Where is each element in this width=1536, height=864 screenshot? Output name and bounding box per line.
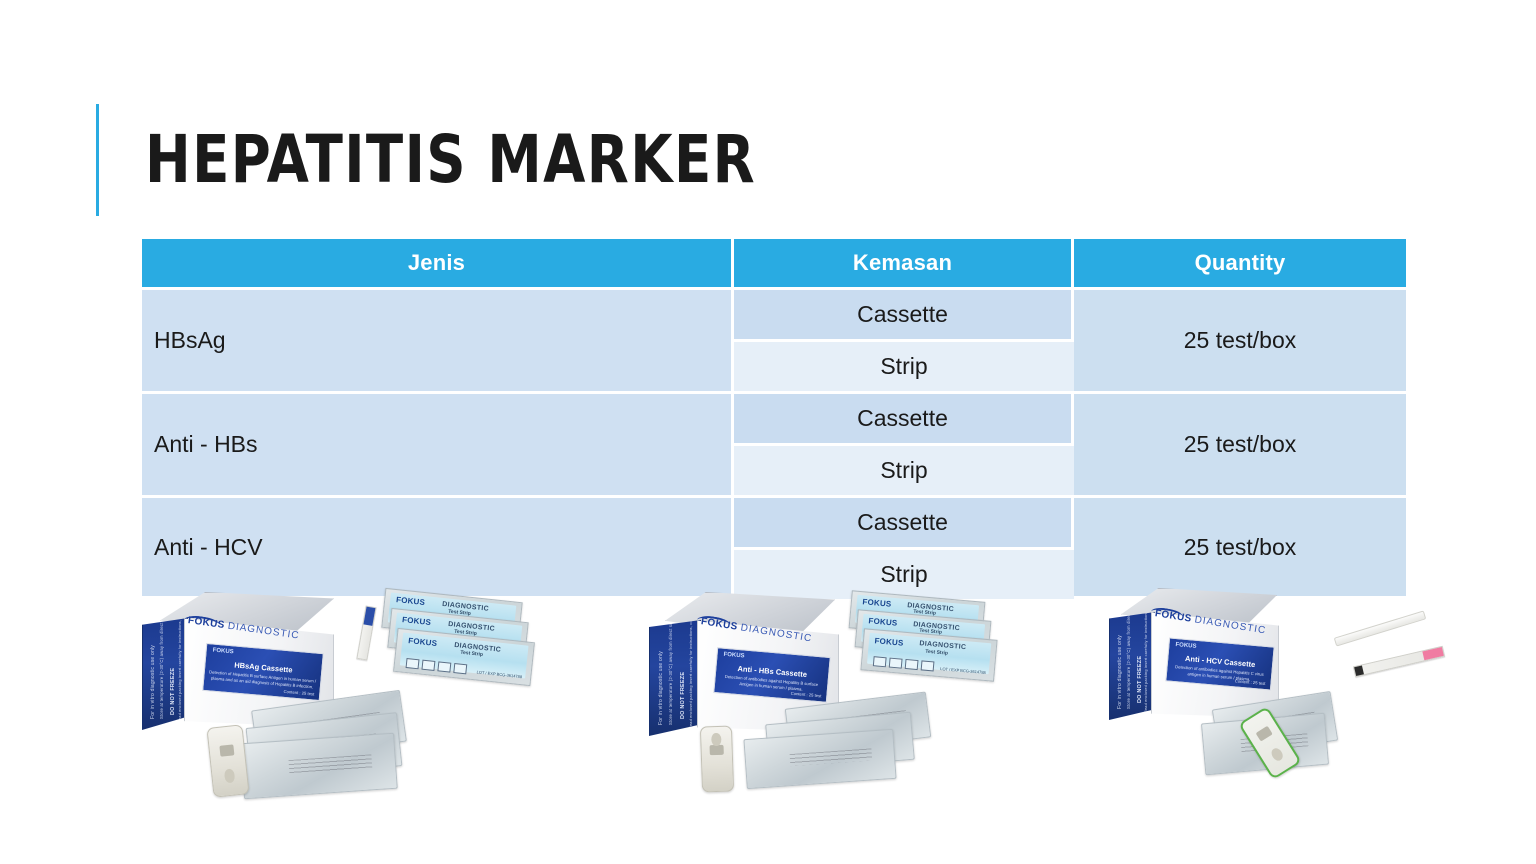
cassette-result-window [219,744,235,756]
pouch-icon-ivd [872,656,886,667]
cell-kemasan-strip: Strip [734,342,1074,394]
box-side-text-3: DO NOT FREEZE [1136,656,1144,703]
page-title: HEPATITIS MARKER [145,127,756,193]
product-photo-row: For in vitro diagnostic use only Store a… [0,578,1536,818]
cell-quantity: 25 test/box [1074,394,1406,498]
box-front-label-anti-hcv: FOKUS Anti - HCV Cassette Detection of a… [1165,637,1274,690]
table-row: Anti - HBs Cassette 25 test/box [142,394,1406,446]
box-side-face: For in vitro diagnostic use only Store a… [1109,612,1155,720]
cassette-result-window [1256,726,1272,741]
cassette-result-window [710,745,724,756]
cell-kemasan-cassette: Cassette [734,394,1074,446]
box-side-text-2: Store at temperature (2-30°C) away from … [159,618,165,719]
box-side-face: For in vitro diagnostic use only Store a… [142,618,188,730]
product-photo-anti-hcv: For in vitro diagnostic use only Store a… [1105,578,1445,778]
spec-table-wrapper: Jenis Kemasan Quantity HBsAg Cassette 25… [142,239,1406,599]
pouch-icon-ivd [405,658,419,669]
table-header-row: Jenis Kemasan Quantity [142,239,1406,290]
strip-pink-end [1423,647,1444,660]
cell-kemasan-cassette: Cassette [734,290,1074,342]
cell-quantity: 25 test/box [1074,290,1406,394]
label-brand: FOKUS [212,648,233,656]
cassette-device [700,725,734,792]
label-brand: FOKUS [723,652,744,660]
column-header-quantity: Quantity [1074,239,1406,290]
pouch-printed-text [790,748,872,766]
product-photo-anti-hbs: For in vitro diagnostic use only Store a… [645,578,1045,798]
product-box-anti-hbs: For in vitro diagnostic use only Store a… [649,592,839,720]
slide-root: HEPATITIS MARKER Jenis Kemasan Quantity … [0,0,1536,864]
column-header-kemasan: Kemasan [734,239,1074,290]
box-side-text-4: Read enclosed packing insert carefully f… [689,620,695,729]
box-front-label-hbsag: FOKUS HBsAg Cassette Detection of Hepati… [202,643,324,701]
test-strip-bare [356,605,376,660]
box-side-text-1: For in vitro diagnostic use only [150,645,158,719]
pouch-icon-no-reuse [888,658,902,669]
box-side-text-2: Store at temperature (2-30°C) away from … [1126,612,1132,709]
title-accent-bar [96,104,99,216]
foil-pouch [240,733,398,800]
cassette-sample-well [1270,747,1285,763]
product-box-anti-hcv: For in vitro diagnostic use only Store a… [1109,588,1279,708]
cell-jenis: Anti - HBs [142,394,734,498]
box-side-face: For in vitro diagnostic use only Store a… [649,620,701,736]
pouch-icon-leaflet [920,660,934,671]
pouch-icon-no-reuse [421,659,435,670]
box-side-text-2: Store at temperature (2-30°C) away from … [668,620,674,725]
product-photo-hbsag: For in vitro diagnostic use only Store a… [136,578,551,808]
product-box-hbsag: For in vitro diagnostic use only Store a… [142,592,340,717]
cell-kemasan-strip: Strip [734,446,1074,498]
cassette-sample-well [223,769,235,784]
pouch-icon-leaflet [453,663,467,674]
page-title-block: HEPATITIS MARKER [96,104,809,216]
test-strip-bare [1353,646,1445,677]
box-side-text-3: DO NOT FREEZE [679,672,687,719]
pouch-icon-temperature [904,659,918,670]
cassette-sample-well [711,733,721,746]
table-row: Anti - HCV Cassette 25 test/box [142,498,1406,550]
cell-kemasan-cassette: Cassette [734,498,1074,550]
cell-jenis: HBsAg [142,290,734,394]
pouch-printed-text [288,754,372,774]
column-header-jenis: Jenis [142,239,734,290]
spec-table: Jenis Kemasan Quantity HBsAg Cassette 25… [142,239,1406,599]
box-side-text-1: For in vitro diagnostic use only [658,651,666,725]
box-side-text-3: DO NOT FREEZE [169,668,177,715]
cassette-device [206,724,249,797]
table-row: HBsAg Cassette 25 test/box [142,290,1406,342]
pouch-icon-temperature [437,661,451,672]
foil-pouch [743,729,896,789]
dropper-pipette [1334,610,1427,646]
box-side-text-4: Read enclosed packing insert carefully f… [1144,612,1150,713]
box-side-text-4: Read enclosed packing insert carefully f… [178,618,184,723]
strip-blue-end [364,607,376,626]
box-side-text-1: For in vitro diagnostic use only [1117,635,1125,709]
strip-dark-end [1354,665,1364,676]
box-front-label-anti-hbs: FOKUS Anti - HBs Cassette Detection of a… [713,647,831,703]
label-brand: FOKUS [1175,642,1196,650]
